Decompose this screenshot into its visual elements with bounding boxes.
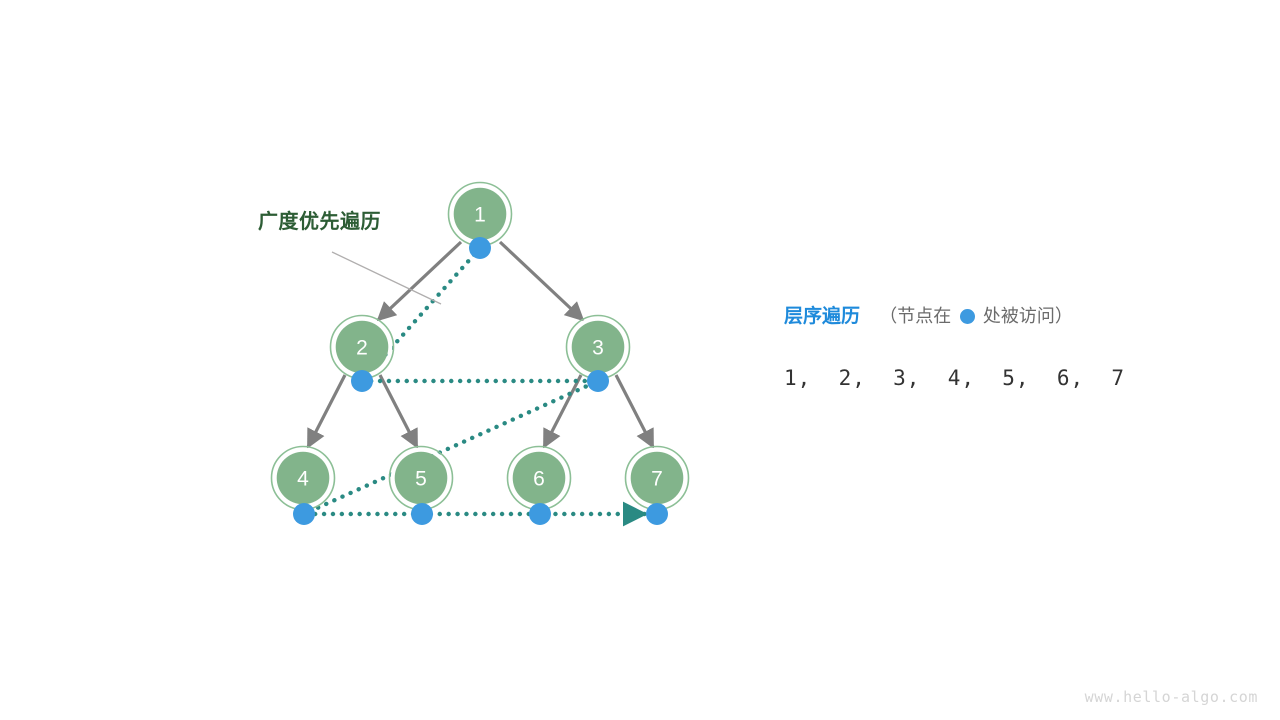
edge-3-7: [616, 375, 653, 447]
node-label: 2: [356, 337, 368, 360]
tree-node-3[interactable]: 3: [567, 316, 630, 379]
diagram-canvas: 1 2 3 4: [0, 0, 1280, 720]
node-label: 6: [533, 468, 545, 491]
visit-markers: [293, 237, 668, 525]
node-label: 1: [474, 204, 486, 227]
node-label: 7: [651, 468, 663, 491]
legend-row: 层序遍历 （节点在 处被访问）: [784, 307, 1073, 326]
edge-1-3: [500, 242, 583, 320]
legend-note-after: 处被访问）: [983, 306, 1073, 326]
tree-node-6[interactable]: 6: [508, 447, 571, 510]
legend-title: 层序遍历: [784, 306, 860, 327]
tree-graphics-layer: 1 2 3 4: [0, 0, 1280, 720]
node-label: 5: [415, 468, 427, 491]
bfs-annotation-label: 广度优先遍历: [258, 205, 381, 234]
legend-note-before: （节点在: [879, 306, 951, 326]
edge-2-5: [380, 375, 417, 447]
watermark: www.hello-algo.com: [1085, 688, 1258, 706]
edge-3-6: [544, 375, 581, 447]
tree-node-2[interactable]: 2: [331, 316, 394, 379]
visit-dot-icon-6: [529, 503, 551, 525]
visit-dot-icon-2: [351, 370, 373, 392]
visit-dot-icon-4: [293, 503, 315, 525]
visit-dot-icon-3: [587, 370, 609, 392]
blue-circle-icon: [960, 309, 975, 324]
tree-node-5[interactable]: 5: [390, 447, 453, 510]
visit-dot-icon-7: [646, 503, 668, 525]
tree-node-4[interactable]: 4: [272, 447, 335, 510]
visit-dot-icon-1: [469, 237, 491, 259]
node-label: 4: [297, 468, 309, 491]
tree-node-1[interactable]: 1: [449, 183, 512, 246]
node-label: 3: [592, 337, 604, 360]
edge-2-4: [308, 375, 345, 447]
traversal-sequence-text: 1, 2, 3, 4, 5, 6, 7: [784, 366, 1125, 390]
visit-dot-icon-5: [411, 503, 433, 525]
tree-node-7[interactable]: 7: [626, 447, 689, 510]
